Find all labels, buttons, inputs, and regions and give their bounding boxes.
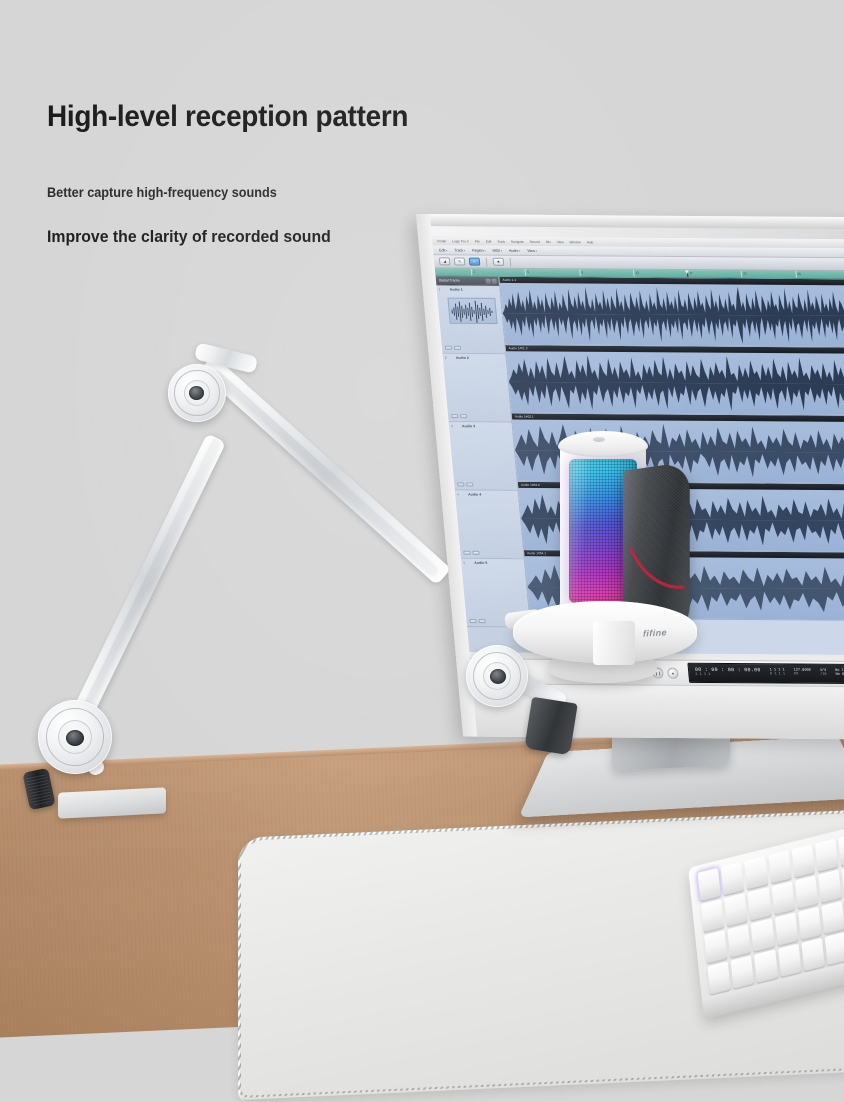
boom-arm-upper-inner-rail [211,369,439,576]
microphone-top-cap [558,431,648,457]
desk-clamp-knob[interactable] [22,768,55,811]
fifine-microphone: fifine [505,425,705,690]
product-scene: Finder Logic Pro X File Edit Track Navig… [0,0,844,1024]
boom-arm-top-hinge-hub [189,386,204,400]
boom-arm-front-hinge-hub [490,669,506,684]
boom-arm-base-hinge-hub [66,730,84,746]
shock-mount-front-tab [593,621,635,665]
page-title: High-level reception pattern [47,100,568,133]
subheading-primary: Better capture high-frequency sounds [47,185,573,200]
marketing-copy-block: High-level reception pattern Better capt… [47,100,607,247]
subheading-secondary: Improve the clarity of recorded sound [47,227,568,247]
fifine-brand-logo: fifine [643,627,667,638]
boom-arm-rear-inner-rail [77,438,220,721]
desk-clamp-plate [58,787,166,818]
monitor-mount-bracket [524,697,578,756]
pop-filter-red-accent-icon [629,543,685,597]
microphone-top-button-icon[interactable] [593,437,605,442]
